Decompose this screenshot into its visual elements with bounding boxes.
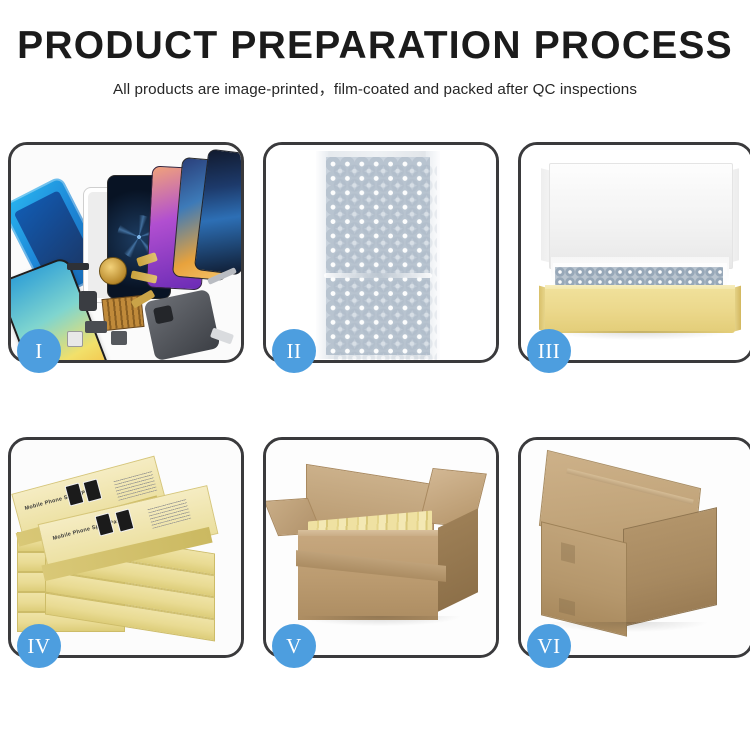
- sealed-carton-tape-upper: [561, 542, 575, 563]
- step-card-6: VI: [518, 437, 750, 658]
- step-badge-5: V: [272, 624, 316, 668]
- small-part-g: [111, 331, 127, 345]
- mailer-lid: [549, 163, 733, 269]
- step-card-3: III: [518, 142, 750, 363]
- small-part-a: [67, 263, 89, 270]
- step-image-5: [266, 440, 496, 655]
- sealed-carton-shadow: [547, 622, 707, 632]
- step-card-2: II: [263, 142, 499, 363]
- step-image-3: [521, 145, 750, 360]
- step-card-4: Mobile Phone Spare Parts Mobile Phone Sp…: [8, 437, 244, 658]
- step-image-1: [11, 145, 241, 360]
- sealed-carton-side: [623, 507, 717, 627]
- step-image-2: [266, 145, 496, 360]
- sealed-carton-front: [541, 521, 627, 636]
- step-card-1: I: [8, 142, 244, 363]
- small-part-d: [79, 291, 97, 311]
- step-badge-4: IV: [17, 624, 61, 668]
- steps-grid: I II: [8, 142, 742, 658]
- step-badge-6: VI: [527, 624, 571, 668]
- step-badge-3: III: [527, 329, 571, 373]
- phone-back-housing: [143, 289, 220, 360]
- small-part-e: [85, 321, 107, 333]
- step-image-4: Mobile Phone Spare Parts Mobile Phone Sp…: [11, 440, 241, 655]
- bubble-wrap-bubbles-overlay: [333, 164, 437, 360]
- product-preparation-infographic: PRODUCT PREPARATION PROCESS All products…: [0, 0, 750, 750]
- mailer-base: [545, 289, 735, 333]
- step-badge-1: I: [17, 329, 61, 373]
- small-part-f: [67, 331, 83, 347]
- carton-side-right: [438, 508, 478, 612]
- step-badge-2: II: [272, 329, 316, 373]
- page-subtitle: All products are image-printed，film-coat…: [0, 77, 750, 99]
- bubble-wrap-seam: [324, 273, 432, 278]
- step-card-5: V: [263, 437, 499, 658]
- header: PRODUCT PREPARATION PROCESS All products…: [0, 0, 750, 99]
- carton-shadow: [300, 616, 460, 626]
- step-image-6: [521, 440, 750, 655]
- box-stack: Mobile Phone Spare Parts Mobile Phone Sp…: [11, 440, 241, 655]
- mailer-shadow: [551, 331, 729, 340]
- speaker-coil-part: [99, 257, 127, 285]
- page-title: PRODUCT PREPARATION PROCESS: [0, 26, 750, 67]
